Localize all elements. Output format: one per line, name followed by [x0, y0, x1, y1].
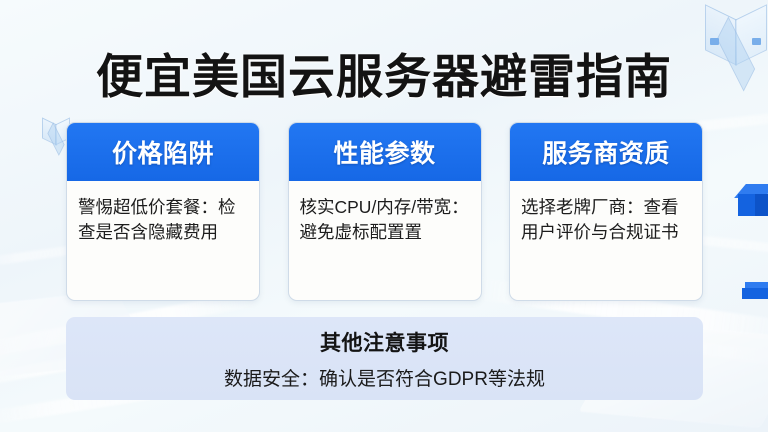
- card-header-price-trap: 价格陷阱: [67, 123, 259, 181]
- card-performance-specs[interactable]: 性能参数 核实CPU/内存/带宽：避免虚标配置置: [288, 122, 482, 301]
- blue-bar-icon: [742, 282, 768, 304]
- card-row: 价格陷阱 警惕超低价套餐：检查是否含隐藏费用 性能参数 核实CPU/内存/带宽：…: [66, 122, 703, 299]
- card-provider-qualification[interactable]: 服务商资质 选择老牌厂商：查看用户评价与合规证书: [509, 122, 703, 301]
- card-price-trap[interactable]: 价格陷阱 警惕超低价套餐：检查是否含隐藏费用: [66, 122, 260, 301]
- card-body-performance-specs: 核实CPU/内存/带宽：避免虚标配置置: [289, 181, 481, 300]
- card-body-price-trap: 警惕超低价套餐：检查是否含隐藏费用: [67, 181, 259, 300]
- card-header-provider-qualification: 服务商资质: [510, 123, 702, 181]
- card-header-performance-specs: 性能参数: [289, 123, 481, 181]
- footer-title: 其他注意事项: [320, 327, 449, 357]
- footer-panel: 其他注意事项 数据安全：确认是否符合GDPR等法规: [66, 317, 703, 400]
- footer-text: 数据安全：确认是否符合GDPR等法规: [224, 364, 545, 391]
- small-glass-cube-icon: [42, 118, 68, 146]
- page-title: 便宜美国云服务器避雷指南: [0, 38, 768, 107]
- slide-canvas: 便宜美国云服务器避雷指南 价格陷阱 警惕超低价套餐：检查是否含隐藏费用 性能参数…: [0, 0, 768, 432]
- blue-cube-icon: [738, 184, 768, 222]
- card-body-provider-qualification: 选择老牌厂商：查看用户评价与合规证书: [510, 181, 702, 300]
